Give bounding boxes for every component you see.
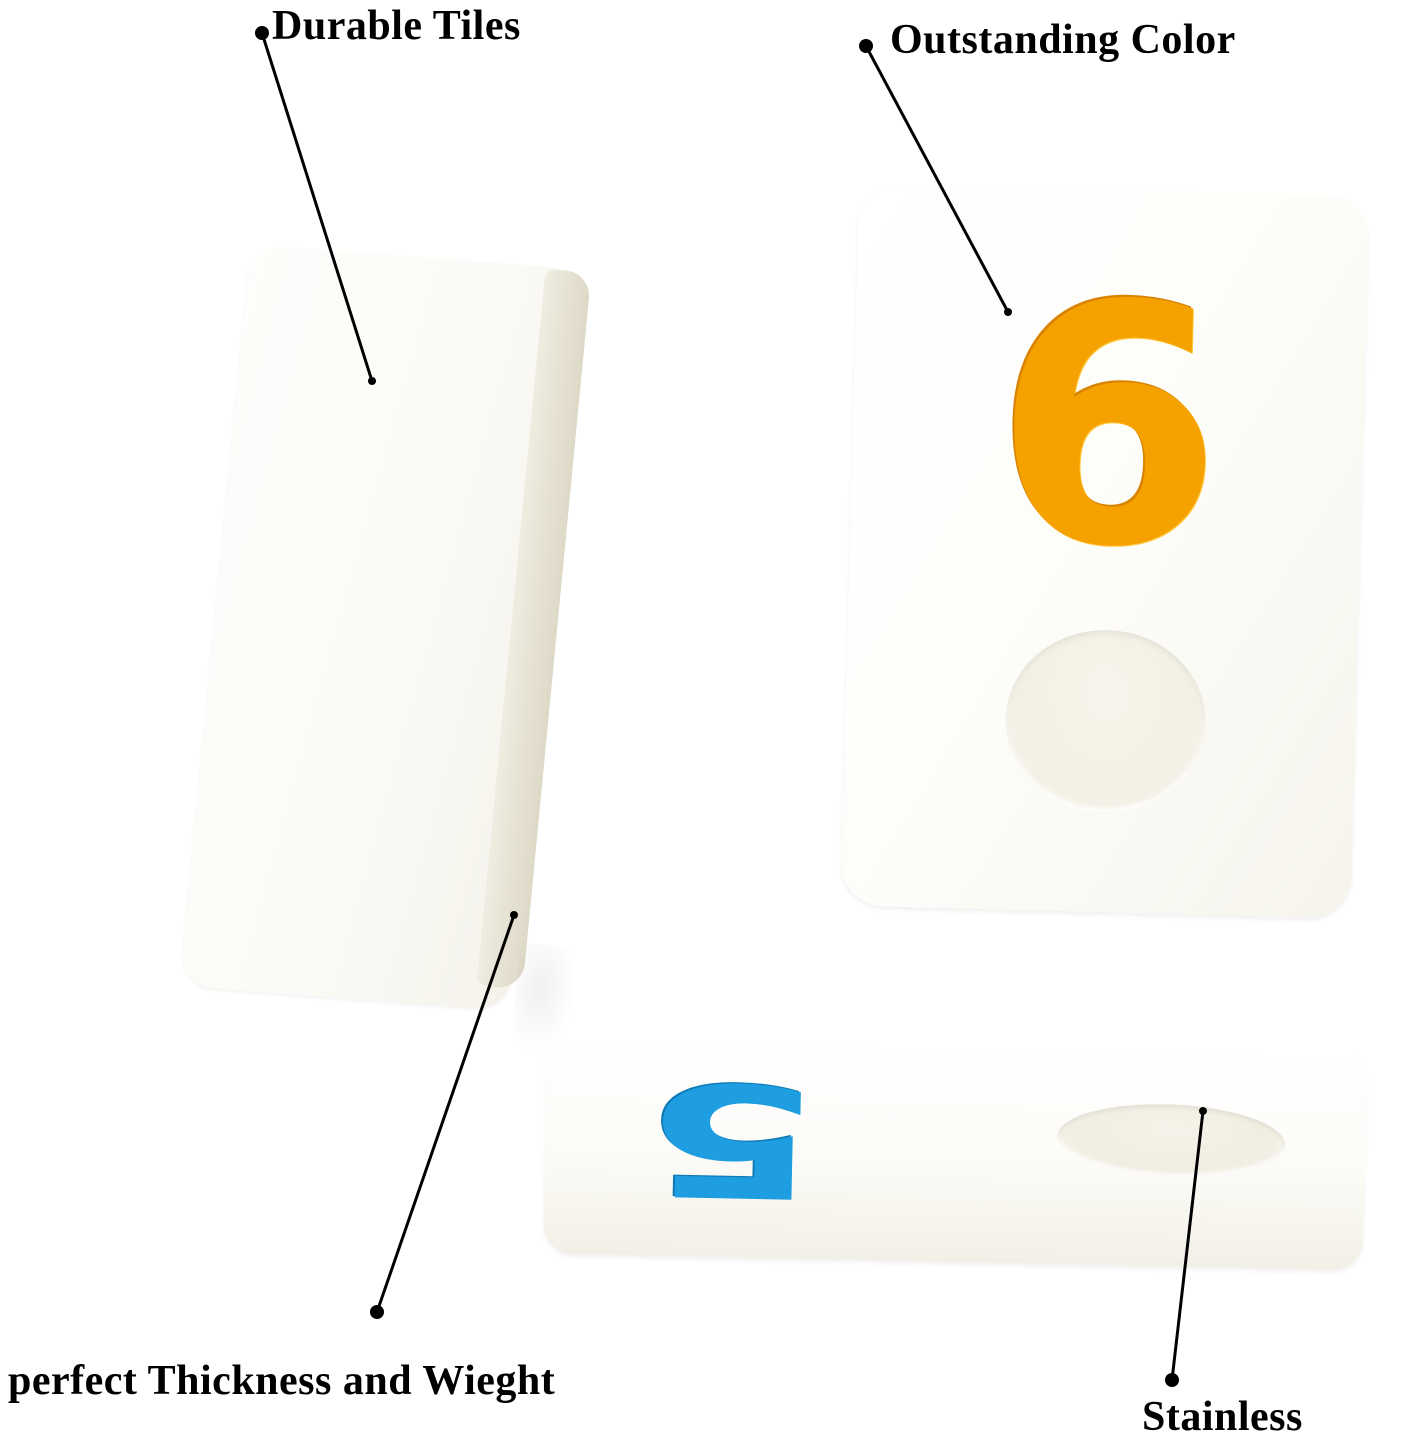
nine-tile: 9 bbox=[850, 190, 1380, 930]
nine-tile-face: 9 bbox=[841, 183, 1370, 918]
leader-dot-stainless bbox=[1165, 1373, 1179, 1387]
callout-label-perfect-thickness: perfect Thickness and Wieght bbox=[8, 1357, 555, 1405]
five-tile: 5 bbox=[545, 1040, 1375, 1290]
callout-label-outstanding-color: Outstanding Color bbox=[890, 16, 1236, 64]
callout-label-stainless: Stainless bbox=[1142, 1393, 1303, 1441]
five-tile-face: 5 bbox=[543, 1031, 1367, 1270]
leader-dot-perfect-thickness bbox=[370, 1305, 384, 1319]
five-tile-dimple bbox=[1056, 1100, 1287, 1181]
blank-tile bbox=[215, 255, 585, 1015]
nine-tile-dimple bbox=[1003, 627, 1208, 814]
nine-tile-glyph: 9 bbox=[989, 247, 1227, 583]
leader-dot-outstanding-color bbox=[859, 39, 873, 53]
five-tile-glyph: 5 bbox=[644, 1060, 821, 1219]
product-photo-canvas: 9 5 Durable Tiles Outstanding Color perf… bbox=[0, 0, 1414, 1443]
leader-dot-durable-tiles bbox=[255, 26, 269, 40]
callout-label-durable-tiles: Durable Tiles bbox=[272, 2, 521, 50]
